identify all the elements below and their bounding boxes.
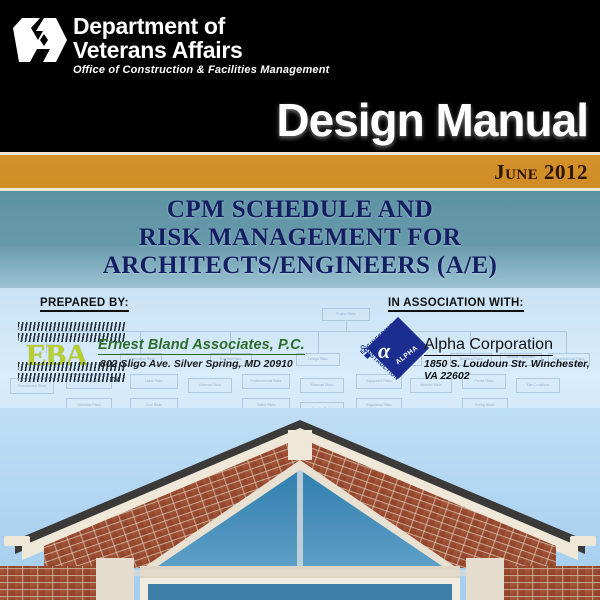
main-title-line2: RISK MANAGEMENT FOR xyxy=(0,224,600,252)
publication-date: June 2012 xyxy=(494,160,588,185)
left-eave-return xyxy=(4,536,30,546)
in-association-with-label: IN ASSOCIATION WITH: xyxy=(388,297,524,312)
preparer-name: Ernest Bland Associates, P.C. xyxy=(98,337,305,355)
associate-name: Alpha Corporation xyxy=(424,336,553,356)
agency-title: Department of Veterans Affairs xyxy=(73,14,243,62)
prepared-by-label: PREPARED BY: xyxy=(40,297,129,312)
chart-link xyxy=(318,331,319,353)
keystone xyxy=(288,430,312,460)
eba-logo-stripe xyxy=(18,322,126,331)
main-title: CPM SCHEDULE AND RISK MANAGEMENT FOR ARC… xyxy=(0,196,600,280)
chart-link xyxy=(346,321,347,331)
right-pilaster xyxy=(466,558,504,600)
agency-title-line2: Veterans Affairs xyxy=(73,38,243,62)
va-logo xyxy=(10,18,68,62)
alpha-corporation-logo: ENGINEERING CONSTRUCTION α ALPHA xyxy=(358,320,430,392)
document-cover: Department of Veterans Affairs Office of… xyxy=(0,0,600,600)
agency-title-line1: Department of xyxy=(73,14,243,38)
main-title-line3: ARCHITECTS/ENGINEERS (A/E) xyxy=(0,252,600,280)
main-title-line1: CPM SCHEDULE AND xyxy=(0,196,600,224)
left-pilaster xyxy=(96,558,134,600)
document-title: Design Manual xyxy=(276,97,588,143)
preparer-address: 802 Sligo Ave. Silver Spring, MD 20910 xyxy=(100,358,293,370)
lower-window-glass xyxy=(148,584,452,600)
eba-logo: EBA TM xyxy=(18,322,126,388)
chart-node: Material Risks xyxy=(188,378,232,393)
office-subtitle: Office of Construction & Facilities Mana… xyxy=(73,64,330,76)
chart-node: Labor Risks xyxy=(130,374,178,389)
chart-link xyxy=(566,331,567,353)
right-eave-return xyxy=(570,536,596,546)
chart-node: Environmental Risks xyxy=(242,374,290,389)
building-photograph xyxy=(0,408,600,600)
associate-address: 1850 S. Loudoun Str. Winchester, VA 2260… xyxy=(424,358,600,382)
eba-trademark: TM xyxy=(110,377,120,384)
chart-node: Financial Risks xyxy=(300,378,344,393)
window-mullion xyxy=(297,470,303,570)
